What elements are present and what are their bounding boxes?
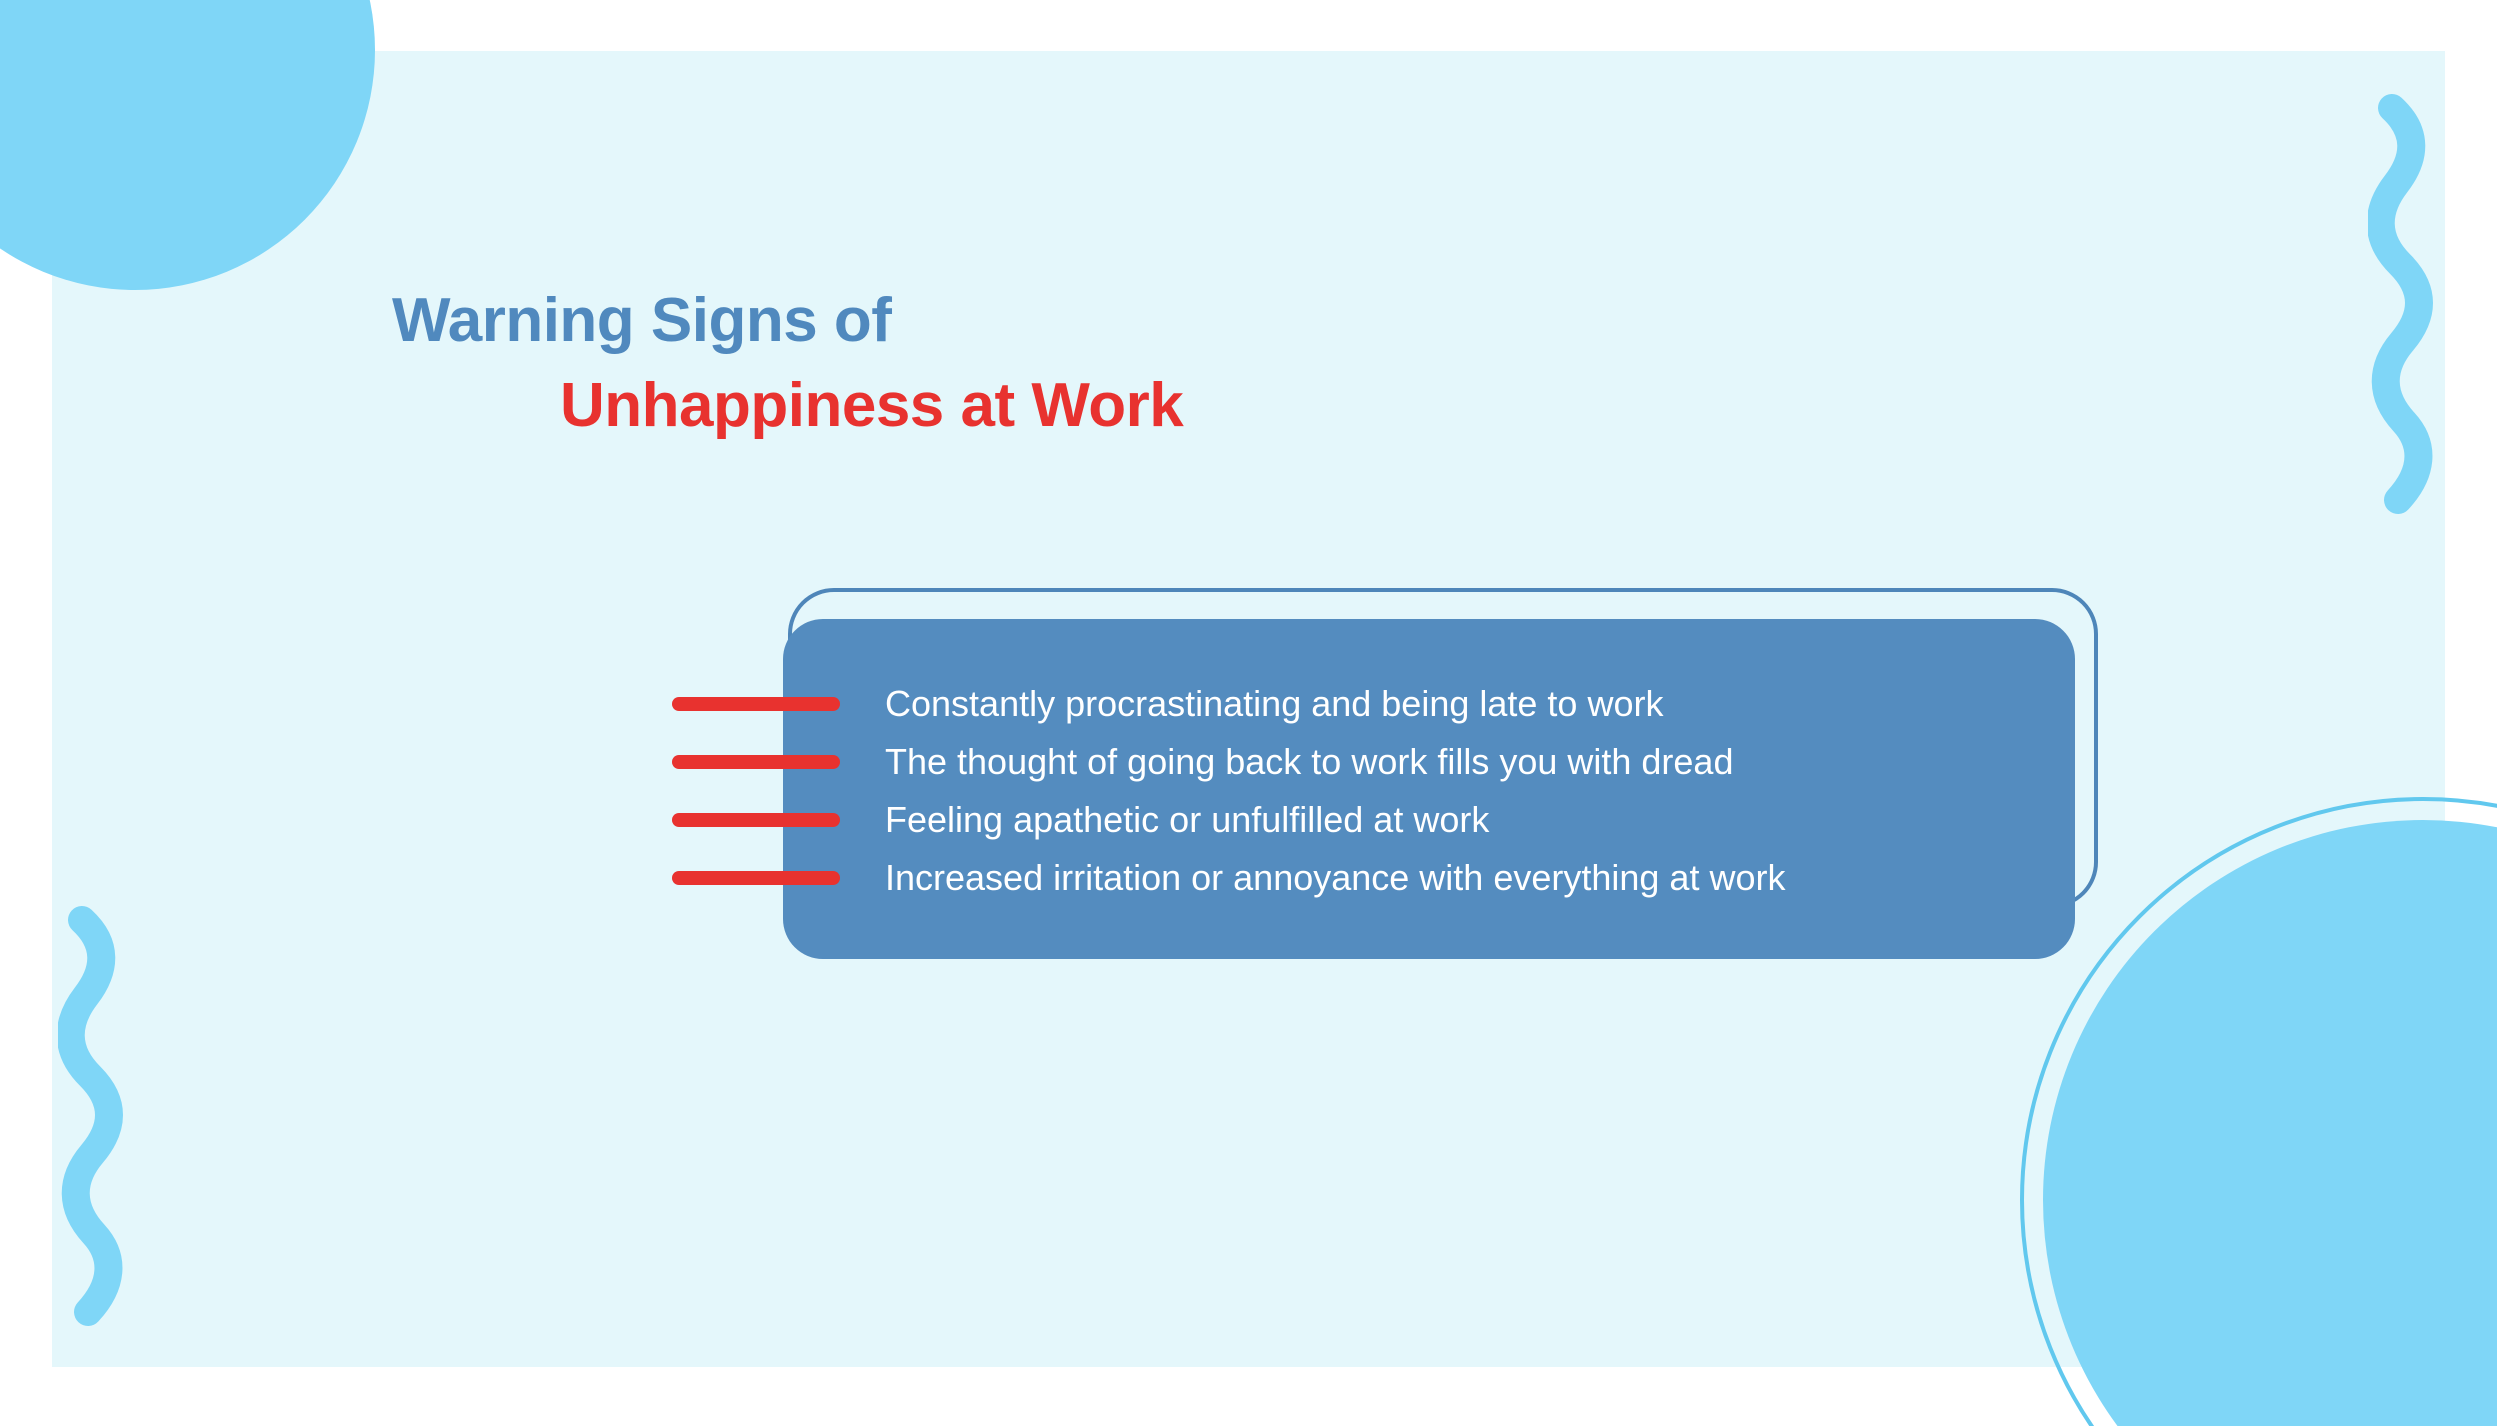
list-item: Constantly procrastinating and being lat…	[885, 675, 2045, 733]
title-line-2: Unhappiness at Work	[560, 373, 1892, 438]
dash-marker-icon	[672, 813, 840, 827]
bullet-marker-group	[672, 675, 872, 907]
bullet-marker-slot	[672, 733, 872, 791]
list-item: Increased irritation or annoyance with e…	[885, 849, 2045, 907]
card-body: Constantly procrastinating and being lat…	[783, 619, 2075, 959]
warning-signs-list: Constantly procrastinating and being lat…	[885, 675, 2045, 907]
dash-marker-icon	[672, 697, 840, 711]
list-item: Feeling apathetic or unfulfilled at work	[885, 791, 2045, 849]
slide-canvas: Warning Signs of Unhappiness at Work	[0, 0, 2497, 1426]
bullet-marker-slot	[672, 675, 872, 733]
content-card: Constantly procrastinating and being lat…	[783, 588, 2103, 968]
bullet-marker-slot	[672, 849, 872, 907]
title-line-1: Warning Signs of	[392, 288, 1892, 353]
dash-marker-icon	[672, 871, 840, 885]
wavy-line-icon	[58, 900, 128, 1332]
page-title: Warning Signs of Unhappiness at Work	[392, 288, 1892, 438]
dash-marker-icon	[672, 755, 840, 769]
wavy-line-icon	[2368, 88, 2438, 520]
bullet-marker-slot	[672, 791, 872, 849]
list-item: The thought of going back to work fills …	[885, 733, 2045, 791]
